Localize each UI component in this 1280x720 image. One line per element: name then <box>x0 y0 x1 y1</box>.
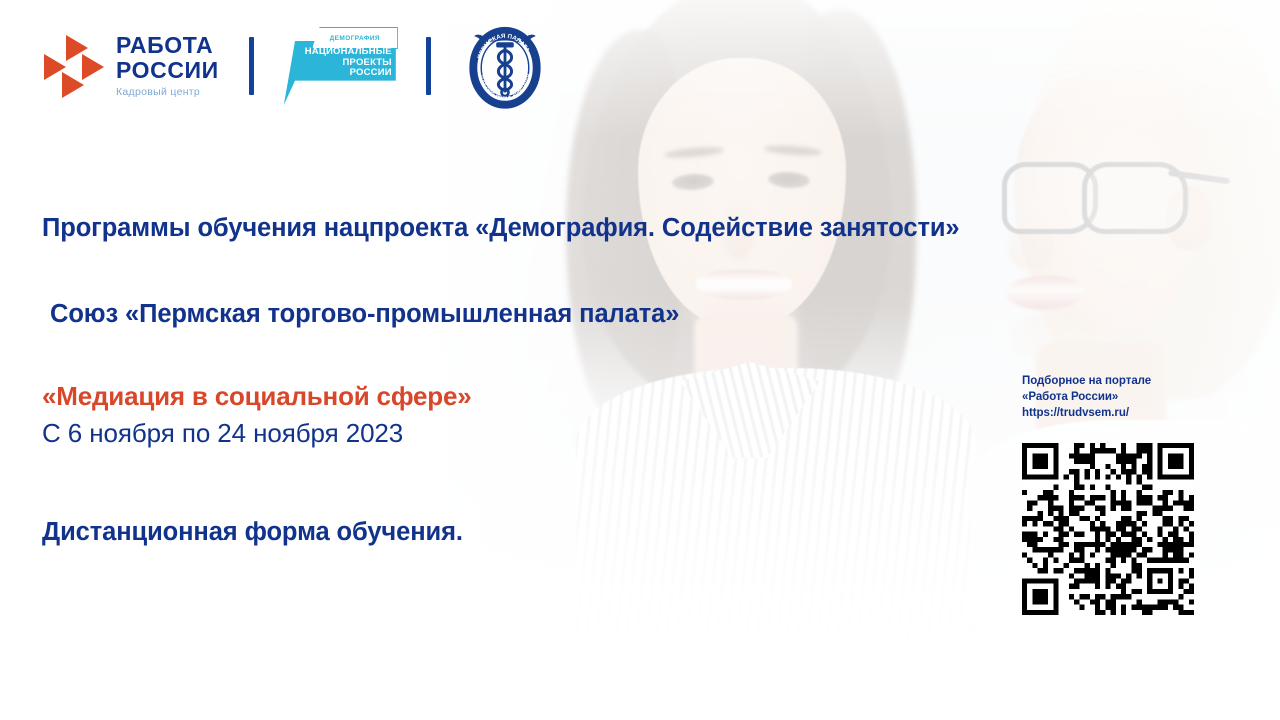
logo-divider-2 <box>426 37 431 95</box>
logo-rabota-line1: РАБОТА <box>116 34 219 57</box>
organization-name: Союз «Пермская торгово-промышленная пала… <box>50 300 679 329</box>
course-format: Дистанционная форма обучения. <box>42 518 463 547</box>
poster-canvas: РАБОТА РОССИИ Кадровый центр ДЕМОГРАФИЯ … <box>0 0 1280 720</box>
logo-rabota-line2: РОССИИ <box>116 59 219 82</box>
rabota-rossii-triangles-icon <box>44 35 106 97</box>
logo-rabota-subtitle: Кадровый центр <box>116 87 219 98</box>
logo-bar: РАБОТА РОССИИ Кадровый центр ДЕМОГРАФИЯ … <box>44 26 549 106</box>
logo-divider-1 <box>249 37 254 95</box>
course-dates: С 6 ноября по 24 ноября 2023 <box>42 418 403 449</box>
qr-code[interactable] <box>1022 443 1194 615</box>
natsproekty-line1: НАЦИОНАЛЬНЫЕ <box>292 47 392 58</box>
natsproekty-line3: РОССИИ <box>292 68 392 79</box>
qr-caption-line-3: https://trudvsem.ru/ <box>1022 405 1202 421</box>
qr-panel: Подборное на портале «Работа России» htt… <box>1022 373 1202 615</box>
natsproekty-badge-label: ДЕМОГРАФИЯ <box>330 35 380 42</box>
qr-caption-line-2: «Работа России» <box>1022 389 1202 405</box>
logo-perm-tpp-emblem: ПЕРМСКАЯ ПАЛАТА ТОРГОВО-ПРОМЫШЛЕННАЯ <box>461 22 549 110</box>
course-name: «Медиация в социальной сфере» <box>42 381 471 412</box>
logo-rabota-rossii: РАБОТА РОССИИ Кадровый центр <box>44 34 219 98</box>
poster-title: Программы обучения нацпроекта «Демографи… <box>42 214 960 243</box>
qr-caption-line-1: Подборное на портале <box>1022 373 1202 389</box>
qr-caption: Подборное на портале «Работа России» htt… <box>1022 373 1202 421</box>
logo-natsproekty: ДЕМОГРАФИЯ НАЦИОНАЛЬНЫЕ ПРОЕКТЫ РОССИИ <box>284 27 396 105</box>
